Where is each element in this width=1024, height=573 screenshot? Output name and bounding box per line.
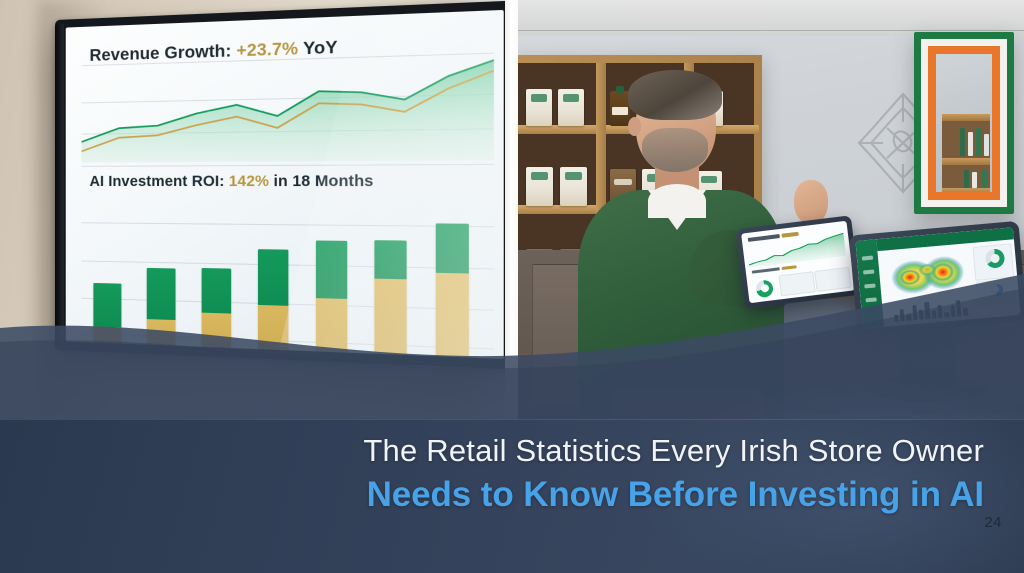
bar: [147, 268, 176, 346]
mirror-shelf: [942, 158, 990, 165]
slide-root: Revenue Growth: +23.7% YoY AI Investment…: [0, 0, 1024, 573]
roi-bar-chart: [86, 210, 490, 359]
mirror-bottle: [982, 170, 987, 188]
pos-terminal[interactable]: [849, 221, 1024, 335]
kpi-revenue-value: +23.7%: [236, 40, 298, 61]
slide-title: The Retail Statistics Every Irish Store …: [363, 433, 984, 516]
pos-screen[interactable]: [855, 227, 1020, 328]
kpi-revenue-suffix: YoY: [303, 38, 338, 58]
mirror-glass: [936, 54, 992, 192]
left-photo-panel: Revenue Growth: +23.7% YoY AI Investment…: [0, 0, 512, 419]
page-number: 24: [984, 514, 1002, 531]
kpi-ai-roi: AI Investment ROI: 142% in 18 Months: [90, 173, 374, 190]
tv-screen: Revenue Growth: +23.7% YoY AI Investment…: [66, 10, 504, 359]
tablet-screen[interactable]: [741, 221, 855, 303]
product-pouch: [526, 89, 552, 126]
title-line-1: The Retail Statistics Every Irish Store …: [363, 433, 984, 469]
mirror-shelf: [942, 188, 990, 192]
right-photo-panel: [518, 0, 1024, 419]
title-band: The Retail Statistics Every Irish Store …: [0, 419, 1024, 573]
mirror-bottle: [972, 172, 977, 188]
kpi-roi-value: 142%: [229, 173, 269, 190]
tablet-donut-gauge: [755, 279, 774, 298]
hand-right: [794, 180, 828, 224]
gridline: [82, 164, 494, 167]
title-line-2: Needs to Know Before Investing in AI: [363, 475, 984, 516]
tablet-subtitle-text: [752, 267, 780, 273]
pos-donut-chart: [991, 283, 1004, 296]
tablet-metric-card: [814, 266, 851, 292]
mirror-bottle: [976, 128, 981, 156]
bar: [375, 240, 407, 355]
bar: [201, 268, 231, 348]
bar: [258, 250, 289, 351]
mirror-bottle: [960, 128, 965, 156]
hair: [628, 70, 722, 120]
ceiling-seam: [518, 30, 1024, 31]
mirror-bottle: [964, 170, 969, 188]
bar: [94, 283, 122, 344]
revenue-line-chart: [82, 56, 494, 163]
beard: [642, 128, 708, 172]
kpi-revenue-label: Revenue Growth:: [90, 42, 232, 65]
tablet-title-accent: [782, 232, 799, 238]
wall-mounted-tv: Revenue Growth: +23.7% YoY AI Investment…: [55, 1, 512, 370]
kpi-roi-label: AI Investment ROI:: [90, 173, 225, 190]
ear: [628, 117, 641, 136]
tablet-subtitle-accent: [781, 265, 796, 270]
product-pouch: [526, 167, 553, 206]
pos-main-area: [876, 227, 1021, 327]
bar: [315, 241, 346, 353]
panel-divider: [505, 0, 519, 419]
store-heatmap: [886, 249, 975, 302]
tv-side-edge: [55, 24, 64, 347]
mirror-bottle: [968, 132, 973, 156]
pos-bar-chart: [893, 297, 969, 323]
mirror-bottle: [984, 134, 989, 156]
kpi-roi-suffix: in 18 Months: [274, 173, 374, 190]
handheld-tablet[interactable]: [736, 215, 861, 309]
tricolour-framed-mirror: [914, 32, 1014, 214]
bar: [436, 223, 469, 357]
mirror-shelf: [942, 114, 990, 121]
tablet-metric-card: [778, 271, 815, 297]
